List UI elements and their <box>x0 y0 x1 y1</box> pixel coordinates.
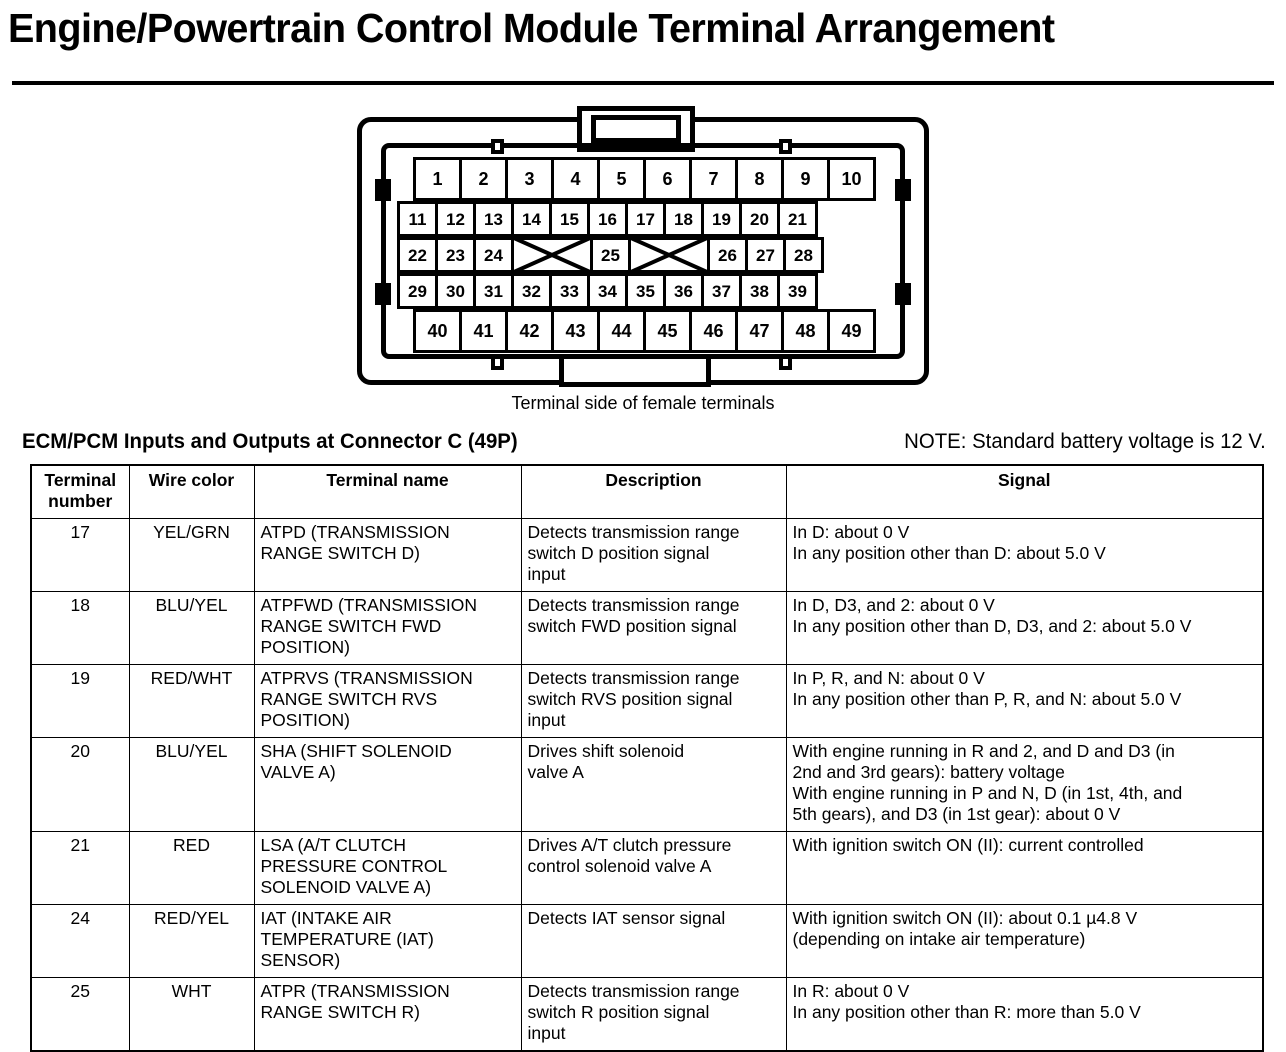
pin-cell-47: 47 <box>735 309 784 353</box>
cell-signal: In P, R, and N: about 0 V In any positio… <box>786 665 1263 738</box>
cell-wire-color: RED/YEL <box>129 905 254 978</box>
pin-row-5: 40414243444546474849 <box>413 309 873 353</box>
pin-row-1: 12345678910 <box>413 157 873 201</box>
cell-description: Drives shift solenoid valve A <box>521 738 786 832</box>
pin-cell-46: 46 <box>689 309 738 353</box>
table-header-cell-0: Terminal number <box>31 465 129 519</box>
section-note: NOTE: Standard battery voltage is 12 V. <box>904 430 1266 454</box>
cell-terminal-name: SHA (SHIFT SOLENOID VALVE A) <box>254 738 521 832</box>
table-row: 19RED/WHTATPRVS (TRANSMISSION RANGE SWIT… <box>31 665 1263 738</box>
cell-terminal-name: ATPFWD (TRANSMISSION RANGE SWITCH FWD PO… <box>254 592 521 665</box>
cell-wire-color: BLU/YEL <box>129 592 254 665</box>
connector-tab-right-upper <box>895 179 911 201</box>
pin-cell-16: 16 <box>587 201 628 237</box>
pin-cell-8: 8 <box>735 157 784 201</box>
connector-notch-top-right <box>779 139 792 154</box>
cell-terminal-name: LSA (A/T CLUTCH PRESSURE CONTROL SOLENOI… <box>254 832 521 905</box>
section-title: ECM/PCM Inputs and Outputs at Connector … <box>22 430 518 454</box>
pin-cell-13: 13 <box>473 201 514 237</box>
cell-wire-color: BLU/YEL <box>129 738 254 832</box>
cell-terminal-number: 19 <box>31 665 129 738</box>
cell-wire-color: RED <box>129 832 254 905</box>
pin-cell-45: 45 <box>643 309 692 353</box>
cell-signal: With engine running in R and 2, and D an… <box>786 738 1263 832</box>
pin-cell-34: 34 <box>587 273 628 309</box>
cell-terminal-number: 20 <box>31 738 129 832</box>
cell-description: Detects transmission range switch R posi… <box>521 978 786 1052</box>
cell-description: Detects transmission range switch D posi… <box>521 519 786 592</box>
table-header-cell-3: Description <box>521 465 786 519</box>
cell-terminal-number: 25 <box>31 978 129 1052</box>
pin-cell-32: 32 <box>511 273 552 309</box>
document-page: Engine/Powertrain Control Module Termina… <box>0 0 1286 1052</box>
cell-wire-color: YEL/GRN <box>129 519 254 592</box>
page-title: Engine/Powertrain Control Module Termina… <box>8 2 1234 54</box>
connector-tab-left-upper <box>375 179 391 201</box>
table-body: 17YEL/GRNATPD (TRANSMISSION RANGE SWITCH… <box>31 519 1263 1052</box>
pin-cell-1: 1 <box>413 157 462 201</box>
table-header-row: Terminal numberWire colorTerminal nameDe… <box>31 465 1263 519</box>
table-header-cell-4: Signal <box>786 465 1263 519</box>
cell-terminal-number: 17 <box>31 519 129 592</box>
connector-notch-bottom-left <box>491 355 504 370</box>
pin-cell-26: 26 <box>707 237 748 273</box>
table-row: 25WHTATPR (TRANSMISSION RANGE SWITCH R)D… <box>31 978 1263 1052</box>
cell-terminal-number: 18 <box>31 592 129 665</box>
pin-cell-23: 23 <box>435 237 476 273</box>
pin-cell-37: 37 <box>701 273 742 309</box>
connector-top-latch-inner <box>591 115 681 143</box>
title-divider <box>12 81 1274 85</box>
connector-diagram-wrap: 12345678910 1112131415161718192021 22232… <box>0 107 1286 387</box>
cell-description: Detects IAT sensor signal <box>521 905 786 978</box>
pin-row-3: 22232425262728 <box>397 237 821 273</box>
pin-cell-4: 4 <box>551 157 600 201</box>
pin-row-2: 1112131415161718192021 <box>397 201 815 237</box>
connector-notch-bottom-right <box>779 355 792 370</box>
cell-wire-color: RED/WHT <box>129 665 254 738</box>
pin-cell-blank <box>511 237 593 273</box>
cell-terminal-name: ATPD (TRANSMISSION RANGE SWITCH D) <box>254 519 521 592</box>
pin-cell-25: 25 <box>590 237 631 273</box>
pin-cell-17: 17 <box>625 201 666 237</box>
pin-cell-48: 48 <box>781 309 830 353</box>
pin-cell-44: 44 <box>597 309 646 353</box>
pin-cell-27: 27 <box>745 237 786 273</box>
pin-row-4: 2930313233343536373839 <box>397 273 815 309</box>
pin-cell-24: 24 <box>473 237 514 273</box>
cell-terminal-number: 24 <box>31 905 129 978</box>
table-header: Terminal numberWire colorTerminal nameDe… <box>31 465 1263 519</box>
pin-cell-35: 35 <box>625 273 666 309</box>
pin-cell-33: 33 <box>549 273 590 309</box>
pin-cell-11: 11 <box>397 201 438 237</box>
connector-tab-right-lower <box>895 283 911 305</box>
connector-diagram: 12345678910 1112131415161718192021 22232… <box>345 107 941 387</box>
cell-terminal-name: ATPRVS (TRANSMISSION RANGE SWITCH RVS PO… <box>254 665 521 738</box>
pin-cell-6: 6 <box>643 157 692 201</box>
table-row: 17YEL/GRNATPD (TRANSMISSION RANGE SWITCH… <box>31 519 1263 592</box>
pin-cell-42: 42 <box>505 309 554 353</box>
pin-cell-7: 7 <box>689 157 738 201</box>
pin-cell-20: 20 <box>739 201 780 237</box>
cell-terminal-number: 21 <box>31 832 129 905</box>
pin-cell-12: 12 <box>435 201 476 237</box>
pin-cell-39: 39 <box>777 273 818 309</box>
pin-cell-2: 2 <box>459 157 508 201</box>
cell-terminal-name: ATPR (TRANSMISSION RANGE SWITCH R) <box>254 978 521 1052</box>
pin-cell-40: 40 <box>413 309 462 353</box>
cell-wire-color: WHT <box>129 978 254 1052</box>
cell-signal: In D: about 0 V In any position other th… <box>786 519 1263 592</box>
pin-table-wrap: Terminal numberWire colorTerminal nameDe… <box>30 464 1264 1052</box>
pin-cell-43: 43 <box>551 309 600 353</box>
diagram-caption: Terminal side of female terminals <box>0 393 1286 414</box>
pin-cell-19: 19 <box>701 201 742 237</box>
pin-cell-49: 49 <box>827 309 876 353</box>
table-header-cell-1: Wire color <box>129 465 254 519</box>
connector-bottom-latch <box>559 359 711 387</box>
connector-tab-left-lower <box>375 283 391 305</box>
table-row: 18BLU/YELATPFWD (TRANSMISSION RANGE SWIT… <box>31 592 1263 665</box>
pin-cell-3: 3 <box>505 157 554 201</box>
cell-description: Detects transmission range switch FWD po… <box>521 592 786 665</box>
pin-cell-15: 15 <box>549 201 590 237</box>
pin-cell-36: 36 <box>663 273 704 309</box>
pin-cell-22: 22 <box>397 237 438 273</box>
cell-signal: With ignition switch ON (II): current co… <box>786 832 1263 905</box>
table-row: 20BLU/YELSHA (SHIFT SOLENOID VALVE A)Dri… <box>31 738 1263 832</box>
cell-description: Detects transmission range switch RVS po… <box>521 665 786 738</box>
cell-terminal-name: IAT (INTAKE AIR TEMPERATURE (IAT) SENSOR… <box>254 905 521 978</box>
cell-signal: With ignition switch ON (II): about 0.1 … <box>786 905 1263 978</box>
pin-cell-31: 31 <box>473 273 514 309</box>
title-block: Engine/Powertrain Control Module Termina… <box>0 0 1286 54</box>
table-row: 24RED/YELIAT (INTAKE AIR TEMPERATURE (IA… <box>31 905 1263 978</box>
connector-notch-top-left <box>491 139 504 154</box>
cell-signal: In R: about 0 V In any position other th… <box>786 978 1263 1052</box>
pin-cell-18: 18 <box>663 201 704 237</box>
pin-cell-38: 38 <box>739 273 780 309</box>
pin-cell-41: 41 <box>459 309 508 353</box>
pin-cell-29: 29 <box>397 273 438 309</box>
table-row: 21REDLSA (A/T CLUTCH PRESSURE CONTROL SO… <box>31 832 1263 905</box>
pin-cell-blank <box>628 237 710 273</box>
pin-cell-10: 10 <box>827 157 876 201</box>
pin-cell-5: 5 <box>597 157 646 201</box>
pin-cell-28: 28 <box>783 237 824 273</box>
pin-cell-21: 21 <box>777 201 818 237</box>
pin-cell-14: 14 <box>511 201 552 237</box>
section-heading-row: ECM/PCM Inputs and Outputs at Connector … <box>22 430 1266 454</box>
cell-signal: In D, D3, and 2: about 0 V In any positi… <box>786 592 1263 665</box>
cell-description: Drives A/T clutch pressure control solen… <box>521 832 786 905</box>
pin-cell-30: 30 <box>435 273 476 309</box>
pin-cell-9: 9 <box>781 157 830 201</box>
table-header-cell-2: Terminal name <box>254 465 521 519</box>
pin-assignment-table: Terminal numberWire colorTerminal nameDe… <box>30 464 1264 1052</box>
